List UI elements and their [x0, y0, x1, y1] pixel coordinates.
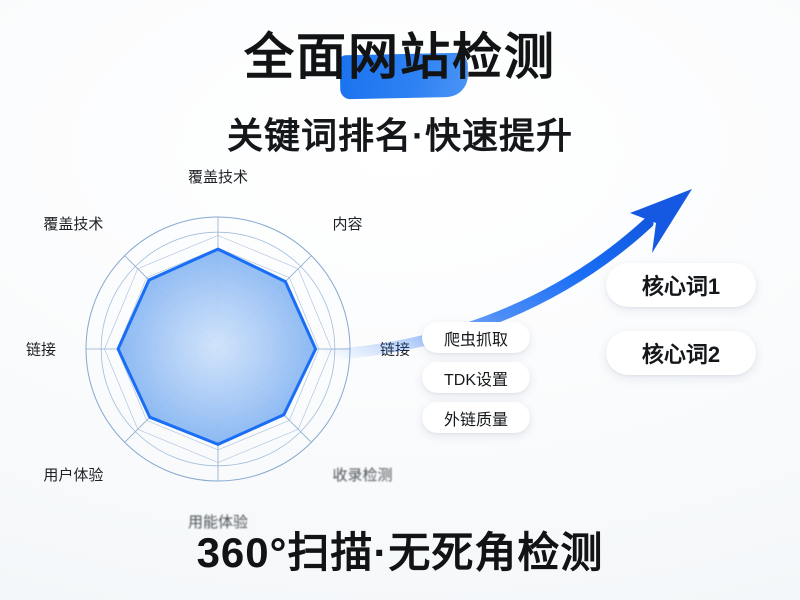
keyword-pill-label: 核心词2	[642, 337, 720, 369]
title-prefix: 全面	[244, 29, 348, 85]
detail-pill-1[interactable]: TDK设置	[422, 362, 530, 393]
detail-pill-0[interactable]: 爬虫抓取	[422, 322, 530, 353]
radar-chart: 覆盖技术内容链接收录检测用能体验用户体验链接覆盖技术	[20, 186, 420, 516]
detail-pill-2[interactable]: 外链质量	[422, 402, 530, 433]
poster-canvas: 全面网站检测 关键词排名·快速提升 覆盖技术内容链接收录检测用能体验用户体验链接…	[0, 0, 800, 600]
title-suffix: 检测	[452, 29, 556, 85]
page-subtitle: 关键词排名·快速提升	[0, 118, 800, 154]
page-footline: 360°扫描·无死角检测	[0, 532, 800, 574]
arrow-head	[630, 189, 692, 253]
radar-axis-label-6: 链接	[26, 339, 56, 360]
headline-container: 全面网站检测	[0, 32, 800, 82]
detail-pill-label: TDK设置	[444, 366, 508, 390]
radar-axis-label-7: 覆盖技术	[43, 213, 103, 234]
radar-axis-label-5: 用户体验	[43, 464, 103, 485]
detail-pill-label: 爬虫抓取	[444, 326, 508, 350]
keyword-pill-0[interactable]: 核心词1	[606, 263, 756, 307]
title-highlight-text: 网站	[348, 29, 452, 85]
detail-pill-label: 外链质量	[444, 406, 508, 430]
radar-axis-label-0: 覆盖技术	[188, 166, 248, 187]
radar-axis-label-1: 内容	[333, 213, 363, 234]
radar-axis-label-3: 收录检测	[333, 464, 393, 485]
page-title: 全面网站检测	[244, 32, 556, 82]
radar-axis-label-2: 链接	[380, 339, 410, 360]
keyword-pill-1[interactable]: 核心词2	[606, 331, 756, 375]
keyword-pill-label: 核心词1	[642, 269, 720, 301]
